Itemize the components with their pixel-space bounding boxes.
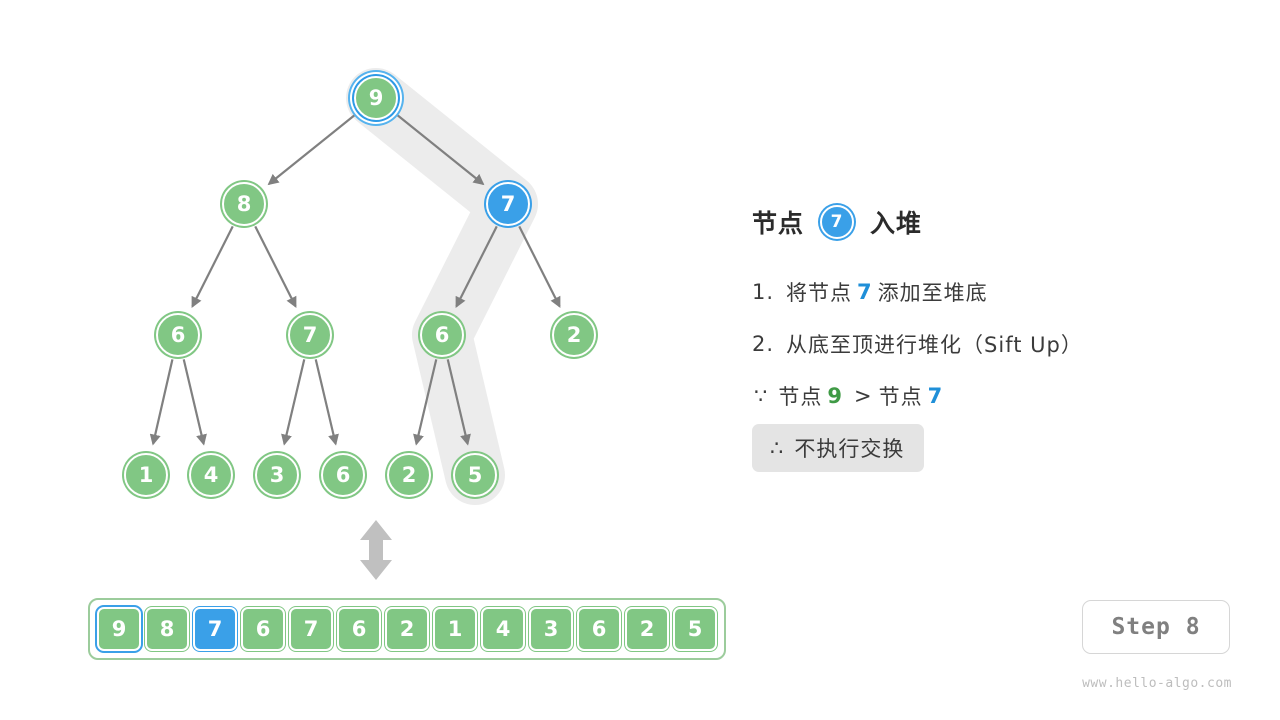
sift-up-path-highlight — [376, 98, 508, 475]
tree-edge — [519, 226, 559, 306]
step-1-after: 添加至堆底 — [878, 277, 988, 307]
step-2-index: 2. — [752, 332, 774, 356]
panel-title: 节点 7 入堆 — [752, 200, 1232, 244]
panel-title-prefix: 节点 — [752, 204, 804, 240]
array-cell[interactable]: 8 — [145, 607, 189, 651]
because-a-label: 节点 — [778, 381, 822, 411]
array-cell[interactable]: 9 — [97, 607, 141, 651]
because-b-value: 7 — [923, 384, 949, 408]
step-item-1: 1. 将节点 7 添加至堆底 — [752, 266, 1232, 318]
array-cell[interactable]: 1 — [433, 607, 477, 651]
panel-title-badge: 7 — [820, 205, 854, 239]
reasoning-because: ∵ 节点 9 > 节点 7 — [752, 370, 1232, 422]
because-operator: > — [848, 384, 879, 408]
tree-node-7[interactable]: 7 — [486, 182, 530, 226]
tree-node-6[interactable]: 6 — [156, 313, 200, 357]
step-1-before: 将节点 — [786, 277, 852, 307]
tree-node-7[interactable]: 7 — [288, 313, 332, 357]
tree-node-9[interactable]: 9 — [354, 76, 398, 120]
step-1-index: 1. — [752, 280, 774, 304]
tree-node-1[interactable]: 1 — [124, 453, 168, 497]
step-1-value: 7 — [852, 280, 878, 304]
explanation-panel: 节点 7 入堆 1. 将节点 7 添加至堆底 2. 从底至顶进行堆化（Sift … — [752, 200, 1232, 474]
tree-node-2[interactable]: 2 — [387, 453, 431, 497]
array-cell[interactable]: 7 — [289, 607, 333, 651]
tree-edge — [316, 359, 336, 444]
tree-edge — [153, 359, 172, 443]
array-cell[interactable]: 4 — [481, 607, 525, 651]
step-2-before: 从底至顶进行堆化（Sift Up） — [786, 329, 1083, 359]
tree-node-5[interactable]: 5 — [453, 453, 497, 497]
because-symbol: ∵ — [754, 384, 778, 408]
because-a-value: 9 — [822, 384, 848, 408]
reasoning-therefore: ∴ 不执行交换 — [752, 422, 1232, 474]
footer-url: www.hello-algo.com — [1070, 676, 1232, 691]
therefore-symbol: ∴ — [770, 436, 794, 460]
double-arrow-vertical-icon — [356, 518, 396, 582]
tree-edge — [269, 114, 357, 184]
tree-node-4[interactable]: 4 — [189, 453, 233, 497]
diagram-canvas: 9876762143625 9876762143625 节点 7 入堆 1. 将… — [0, 0, 1280, 720]
highlight-band — [376, 98, 508, 475]
step-item-2: 2. 从底至顶进行堆化（Sift Up） — [752, 318, 1232, 370]
array-cell[interactable]: 2 — [385, 607, 429, 651]
tree-node-3[interactable]: 3 — [255, 453, 299, 497]
array-cell[interactable]: 6 — [337, 607, 381, 651]
tree-edge — [192, 226, 232, 306]
tree-node-2[interactable]: 2 — [552, 313, 596, 357]
panel-title-suffix: 入堆 — [870, 204, 922, 240]
tree-node-6[interactable]: 6 — [420, 313, 464, 357]
tree-edge — [255, 226, 295, 306]
array-cell[interactable]: 6 — [577, 607, 621, 651]
tree-edge — [184, 359, 204, 444]
tree-node-6[interactable]: 6 — [321, 453, 365, 497]
array-cell[interactable]: 7 — [193, 607, 237, 651]
array-cell[interactable]: 3 — [529, 607, 573, 651]
heap-array: 9876762143625 — [88, 598, 726, 660]
therefore-text: 不执行交换 — [794, 433, 904, 463]
step-badge: Step 8 — [1082, 600, 1230, 654]
array-cell[interactable]: 6 — [241, 607, 285, 651]
array-cell[interactable]: 5 — [673, 607, 717, 651]
tree-edge — [284, 359, 304, 444]
because-b-label: 节点 — [879, 381, 923, 411]
tree-node-8[interactable]: 8 — [222, 182, 266, 226]
array-cell[interactable]: 2 — [625, 607, 669, 651]
